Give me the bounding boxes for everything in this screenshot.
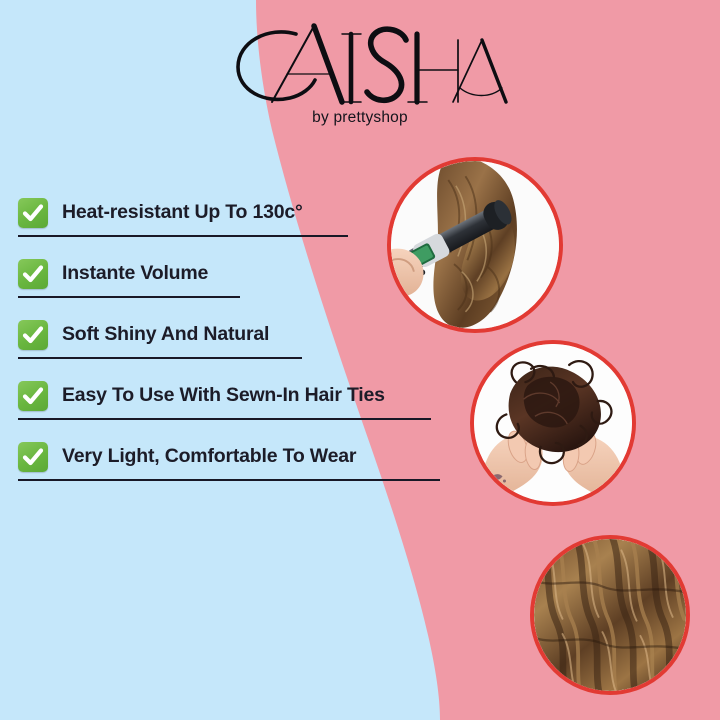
feature-underline xyxy=(18,418,431,420)
feature-underline xyxy=(18,235,348,237)
infographic-canvas: by prettyshop Heat-resistant Up To 130c°… xyxy=(0,0,720,720)
feature-item-instant-volume: Instante Volume xyxy=(0,259,470,298)
feature-label: Very Light, Comfortable To Wear xyxy=(62,447,356,467)
check-square-icon xyxy=(18,381,48,411)
check-square-icon xyxy=(18,320,48,350)
feature-label: Soft Shiny And Natural xyxy=(62,325,269,345)
feature-label: Heat-resistant Up To 130c° xyxy=(62,203,303,223)
feature-item-sewn-in-hair-ties: Easy To Use With Sewn-In Hair Ties xyxy=(0,381,470,420)
feature-label: Instante Volume xyxy=(62,264,208,284)
feature-item-very-light-comfortable: Very Light, Comfortable To Wear xyxy=(0,442,470,481)
feature-list: Heat-resistant Up To 130c° Instante Volu… xyxy=(0,198,470,503)
feature-item-heat-resistant: Heat-resistant Up To 130c° xyxy=(0,198,470,237)
check-square-icon xyxy=(18,442,48,472)
feature-underline xyxy=(18,357,302,359)
feature-item-soft-shiny-natural: Soft Shiny And Natural xyxy=(0,320,470,359)
photo-curly-hair-texture xyxy=(530,535,690,695)
feature-underline xyxy=(18,296,240,298)
check-square-icon xyxy=(18,198,48,228)
photo-hands-holding-hairpiece xyxy=(470,340,636,506)
feature-underline xyxy=(18,479,440,481)
check-square-icon xyxy=(18,259,48,289)
feature-label: Easy To Use With Sewn-In Hair Ties xyxy=(62,386,385,406)
